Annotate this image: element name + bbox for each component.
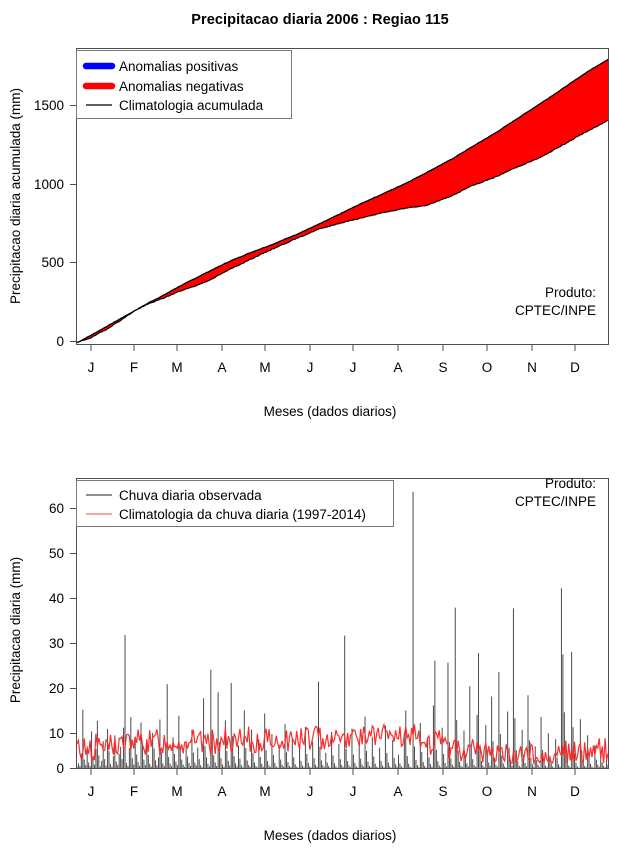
bottom-ytick-30: 30 [49, 636, 64, 651]
observed-daily-bars [77, 492, 608, 769]
top-xtick-nov: N [527, 360, 537, 375]
top-xtick-jul: J [350, 360, 357, 375]
bottom-x-axis: J F M A M J J A S O N D [88, 769, 581, 800]
top-xtick-dec: D [570, 360, 580, 375]
top-xtick-oct: O [482, 360, 493, 375]
bottom-ytick-10: 10 [49, 726, 64, 741]
top-xtick-feb: F [130, 360, 138, 375]
bottom-xtick-dec: D [570, 784, 580, 799]
daily-precipitation-chart: 60 50 40 30 20 10 0 Precipitacao diaria … [0, 430, 640, 850]
bottom-xtick-aug: A [393, 784, 402, 799]
bottom-xtick-apr: A [217, 784, 226, 799]
top-y-axis: 1500 1000 500 0 [34, 98, 77, 349]
bottom-xtick-jun: J [307, 784, 314, 799]
top-xtick-jun: J [307, 360, 314, 375]
bottom-ytick-60: 60 [49, 501, 64, 516]
bottom-xtick-jul: J [350, 784, 357, 799]
top-xtick-aug: A [393, 360, 402, 375]
chart-page: Precipitacao diaria 2006 : Regiao 115 15… [0, 0, 640, 850]
top-xtick-sep: S [438, 360, 447, 375]
legend-label-observed-daily-rain: Chuva diaria observada [119, 488, 262, 503]
legend-label-positive-anomaly: Anomalias positivas [119, 59, 239, 74]
top-xtick-may: M [259, 360, 270, 375]
top-produto-annotation: Produto: CPTEC/INPE [515, 285, 596, 318]
bottom-xtick-mar: M [171, 784, 182, 799]
bottom-ytick-0: 0 [56, 761, 64, 776]
bottom-ytick-50: 50 [49, 546, 64, 561]
bottom-xtick-nov: N [527, 784, 537, 799]
bottom-xtick-sep: S [438, 784, 447, 799]
bottom-y-axis: 60 50 40 30 20 10 0 [49, 501, 77, 776]
bottom-series-group [77, 492, 608, 769]
top-xtick-apr: A [217, 360, 226, 375]
produto-label-line2: CPTEC/INPE [515, 303, 596, 318]
bottom-xtick-oct: O [482, 784, 493, 799]
bottom-produto-annotation: Produto: CPTEC/INPE [515, 476, 596, 509]
top-x-axis: J F M A M J J A S O N D [88, 345, 581, 376]
produto-label-line1: Produto: [545, 285, 596, 300]
legend-label-climatology-accumulated: Climatologia acumulada [119, 98, 264, 113]
top-x-axis-title: Meses (dados diarios) [264, 404, 397, 419]
top-legend: Anomalias positivas Anomalias negativas … [77, 51, 292, 119]
top-ytick-1000: 1000 [34, 177, 64, 192]
bottom-legend: Chuva diaria observada Climatologia da c… [77, 481, 394, 527]
legend-label-negative-anomaly: Anomalias negativas [119, 79, 244, 94]
bottom-ytick-20: 20 [49, 681, 64, 696]
top-xtick-mar: M [171, 360, 182, 375]
legend-label-daily-climatology: Climatologia da chuva diaria (1997-2014) [119, 507, 366, 522]
produto-label-line2-bottom: CPTEC/INPE [515, 494, 596, 509]
top-y-axis-title: Precipitacao diaria acumulada (mm) [8, 88, 23, 304]
bottom-xtick-feb: F [130, 784, 138, 799]
top-ytick-500: 500 [41, 255, 64, 270]
produto-label-line1-bottom: Produto: [545, 476, 596, 491]
top-ytick-0: 0 [56, 334, 64, 349]
top-ytick-1500: 1500 [34, 98, 64, 113]
top-xtick-jan: J [88, 360, 95, 375]
bottom-y-axis-title: Precipitacao diaria (mm) [8, 557, 23, 703]
bottom-ytick-40: 40 [49, 591, 64, 606]
bottom-x-axis-title: Meses (dados diarios) [264, 828, 397, 843]
bottom-xtick-jan: J [88, 784, 95, 799]
bottom-xtick-may: M [259, 784, 270, 799]
accumulated-precipitation-chart: 1500 1000 500 0 Precipitacao diaria acum… [0, 0, 640, 430]
